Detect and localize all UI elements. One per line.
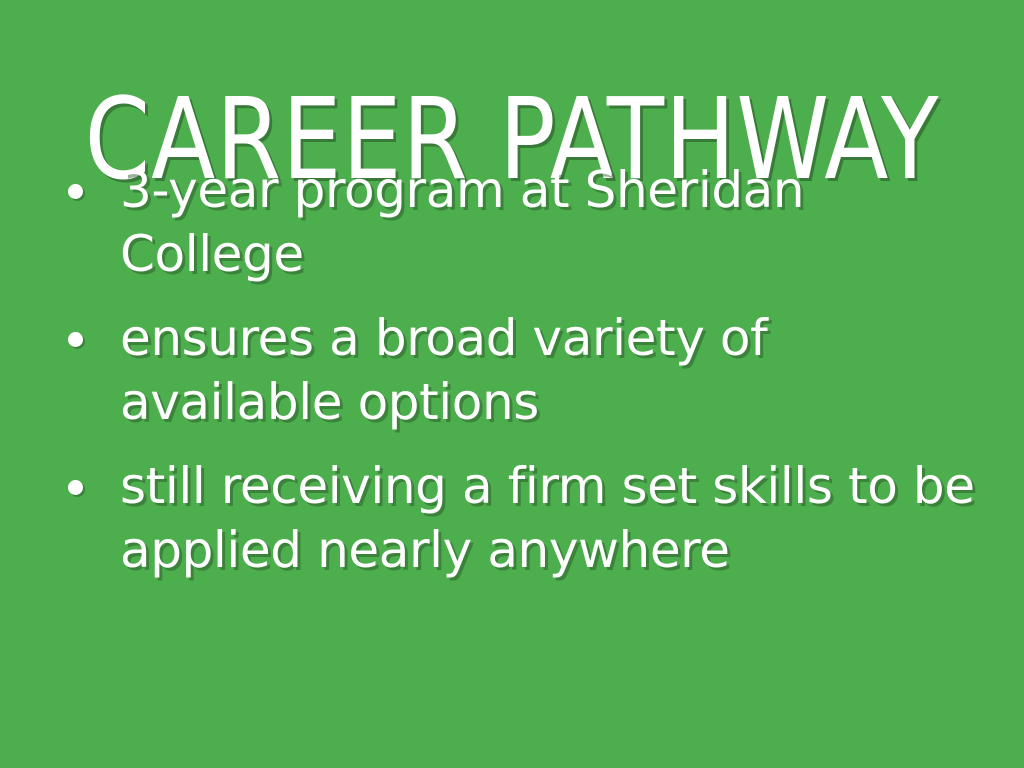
bullet-item-text: 3-year program at Sheridan College <box>120 158 986 286</box>
bullet-dot-icon <box>68 480 83 495</box>
bullet-item-text: still receiving a firm set skills to be … <box>120 454 986 582</box>
bullet-item-text: ensures a broad variety of available opt… <box>120 306 986 434</box>
bullet-list: 3-year program at Sheridan College ensur… <box>56 158 986 582</box>
bullet-dot-icon <box>68 184 83 199</box>
bullet-item: ensures a broad variety of available opt… <box>56 306 986 434</box>
bullet-item: still receiving a firm set skills to be … <box>56 454 986 582</box>
bullet-item: 3-year program at Sheridan College <box>56 158 986 286</box>
bullet-dot-icon <box>68 332 83 347</box>
presentation-slide: CAREER PATHWAY 3-year program at Sherida… <box>0 0 1024 768</box>
